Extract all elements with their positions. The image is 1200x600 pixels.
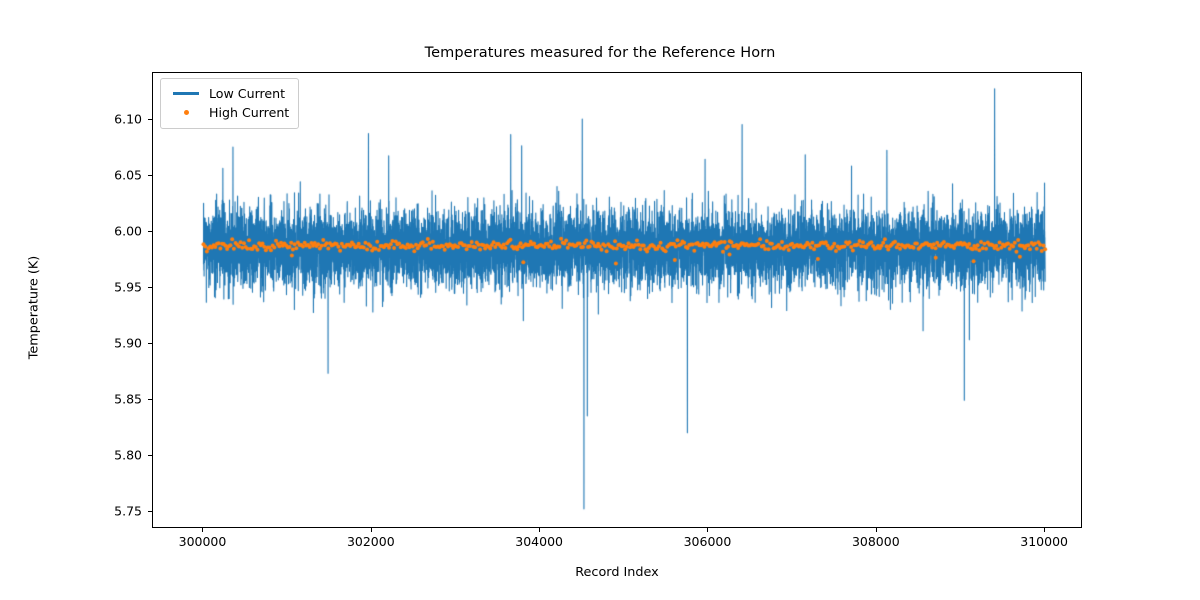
legend-label: High Current	[203, 105, 289, 120]
y-tick-label: 6.00	[82, 224, 142, 239]
x-tick-mark	[876, 528, 877, 532]
legend-item-low-current: Low Current	[169, 84, 289, 103]
x-tick-mark	[539, 528, 540, 532]
y-tick-mark	[148, 231, 152, 232]
y-tick-mark	[148, 455, 152, 456]
y-tick-label: 5.75	[82, 504, 142, 519]
y-tick-label: 6.05	[82, 168, 142, 183]
legend-label: Low Current	[203, 86, 285, 101]
y-tick-label: 5.85	[82, 392, 142, 407]
x-tick-label: 308000	[852, 534, 900, 549]
legend-line-icon	[169, 92, 203, 95]
y-tick-label: 5.95	[82, 280, 142, 295]
chart-title: Temperatures measured for the Reference …	[0, 45, 1200, 61]
x-tick-mark	[707, 528, 708, 532]
y-axis-label: Temperature (K)	[27, 208, 42, 408]
x-tick-mark	[202, 528, 203, 532]
figure: Temperatures measured for the Reference …	[0, 0, 1200, 600]
y-tick-mark	[148, 343, 152, 344]
y-tick-label: 5.80	[82, 448, 142, 463]
y-tick-mark	[148, 287, 152, 288]
x-tick-label: 302000	[347, 534, 395, 549]
y-tick-mark	[148, 175, 152, 176]
y-tick-label: 6.10	[82, 112, 142, 127]
x-tick-label: 306000	[684, 534, 732, 549]
plot-axes	[152, 72, 1082, 528]
legend: Low Current High Current	[160, 78, 299, 129]
y-tick-mark	[148, 119, 152, 120]
legend-item-high-current: High Current	[169, 103, 289, 122]
x-axis-label: Record Index	[152, 565, 1082, 580]
x-tick-label: 300000	[179, 534, 227, 549]
legend-dot-icon	[169, 110, 203, 115]
y-tick-mark	[148, 399, 152, 400]
x-tick-label: 304000	[515, 534, 563, 549]
x-tick-mark	[1044, 528, 1045, 532]
plot-canvas	[153, 73, 1082, 528]
y-tick-label: 5.90	[82, 336, 142, 351]
x-tick-label: 310000	[1020, 534, 1068, 549]
y-tick-mark	[148, 511, 152, 512]
x-tick-mark	[371, 528, 372, 532]
